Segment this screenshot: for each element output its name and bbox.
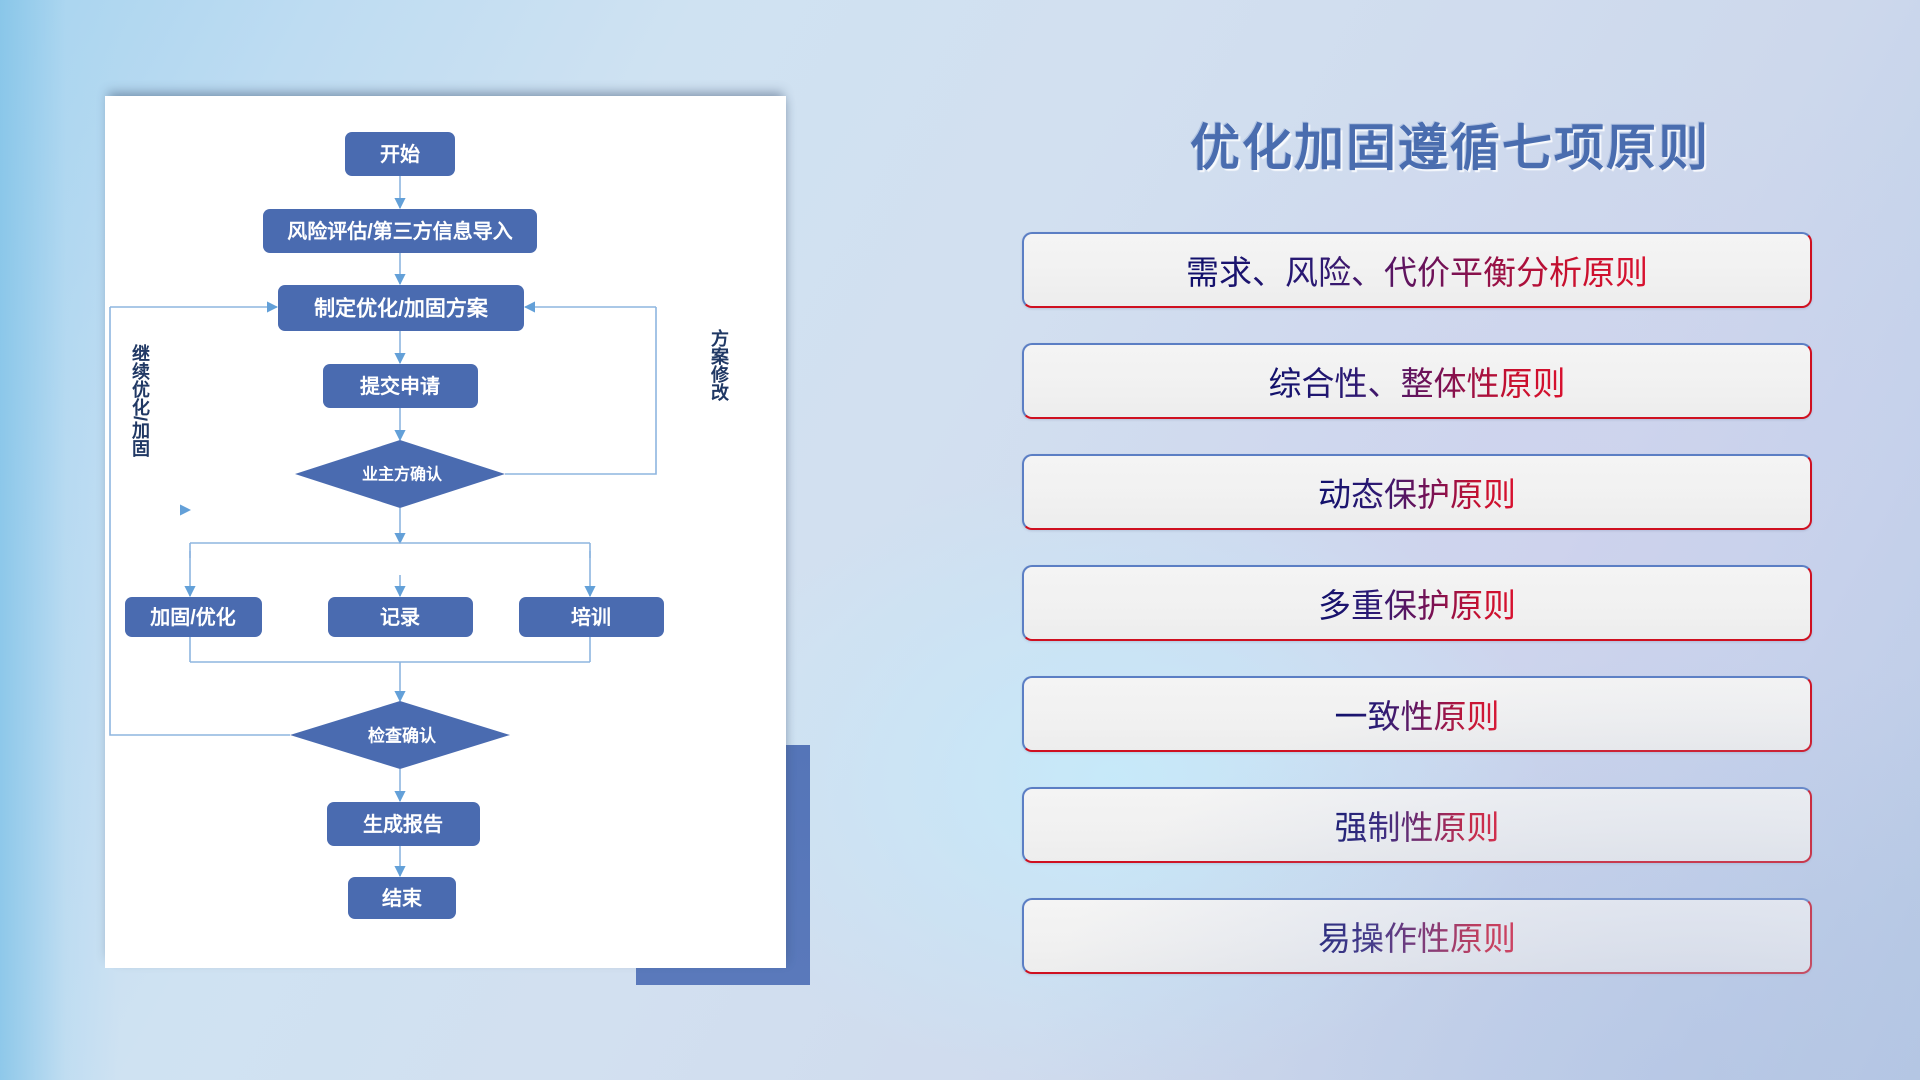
edge-label-right-loop: 方案修改 — [709, 328, 730, 402]
principle-card-7-label: 易操作性原则 — [1318, 912, 1516, 960]
principle-card-7[interactable]: 易操作性原则 — [1022, 898, 1812, 974]
principles-list: 需求、风险、代价平衡分析原则 综合性、整体性原则 动态保护原则 多重保护原则 一… — [1022, 232, 1822, 1009]
flow-node-report-label: 生成报告 — [363, 812, 443, 836]
flow-node-owner-confirm-label: 业主方确认 — [362, 465, 443, 484]
flowchart-diagram: 开始 风险评估/第三方信息导入 制定优化/加固方案 提交申请 业主方确认 — [105, 96, 786, 968]
flow-node-risk-label: 风险评估/第三方信息导入 — [287, 219, 513, 243]
principle-card-1[interactable]: 需求、风险、代价平衡分析原则 — [1022, 232, 1812, 308]
principle-card-3-label: 动态保护原则 — [1318, 468, 1516, 516]
flow-node-plan[interactable]: 制定优化/加固方案 — [278, 285, 524, 331]
principle-card-4-label: 多重保护原则 — [1318, 579, 1516, 627]
principle-card-1-label: 需求、风险、代价平衡分析原则 — [1186, 246, 1648, 294]
flow-node-check-label: 检查确认 — [368, 726, 437, 746]
flow-node-end-label: 结束 — [382, 886, 423, 910]
flowchart-card: 开始 风险评估/第三方信息导入 制定优化/加固方案 提交申请 业主方确认 — [105, 96, 786, 968]
connector-branch-bar — [190, 543, 590, 558]
flow-node-check[interactable]: 检查确认 — [290, 701, 510, 769]
principles-panel: 优化加固遵循七项原则 需求、风险、代价平衡分析原则 综合性、整体性原则 动态保护… — [1020, 0, 1880, 1080]
flow-node-report[interactable]: 生成报告 — [327, 802, 480, 846]
flow-node-plan-label: 制定优化/加固方案 — [314, 297, 489, 321]
connector-right-loop — [505, 307, 656, 474]
slide-root: 开始 风险评估/第三方信息导入 制定优化/加固方案 提交申请 业主方确认 — [0, 0, 1920, 1080]
flow-node-owner-confirm[interactable]: 业主方确认 — [295, 440, 505, 508]
principle-card-4[interactable]: 多重保护原则 — [1022, 565, 1812, 641]
flow-node-training-label: 培训 — [571, 605, 611, 629]
flow-node-risk[interactable]: 风险评估/第三方信息导入 — [263, 209, 537, 253]
flow-node-start[interactable]: 开始 — [345, 132, 455, 176]
page-title: 优化加固遵循七项原则 — [1020, 108, 1880, 180]
principle-card-5-label: 一致性原则 — [1335, 690, 1500, 738]
flow-node-record-label: 记录 — [380, 606, 420, 629]
flow-node-reinforce[interactable]: 加固/优化 — [125, 597, 262, 637]
flow-node-submit[interactable]: 提交申请 — [323, 364, 478, 408]
flow-node-start-label: 开始 — [380, 142, 420, 166]
principle-card-2-label: 综合性、整体性原则 — [1269, 357, 1566, 405]
principle-card-2[interactable]: 综合性、整体性原则 — [1022, 343, 1812, 419]
flow-node-training[interactable]: 培训 — [519, 597, 664, 637]
principle-card-3[interactable]: 动态保护原则 — [1022, 454, 1812, 530]
flow-node-submit-label: 提交申请 — [360, 374, 440, 398]
principle-card-6[interactable]: 强制性原则 — [1022, 787, 1812, 863]
principle-card-5[interactable]: 一致性原则 — [1022, 676, 1812, 752]
edge-label-left-loop: 继续优化/加固 — [130, 343, 151, 458]
flow-node-reinforce-label: 加固/优化 — [149, 605, 236, 629]
flow-node-record[interactable]: 记录 — [328, 597, 473, 637]
flow-node-end[interactable]: 结束 — [348, 877, 456, 919]
principle-card-6-label: 强制性原则 — [1335, 801, 1500, 849]
